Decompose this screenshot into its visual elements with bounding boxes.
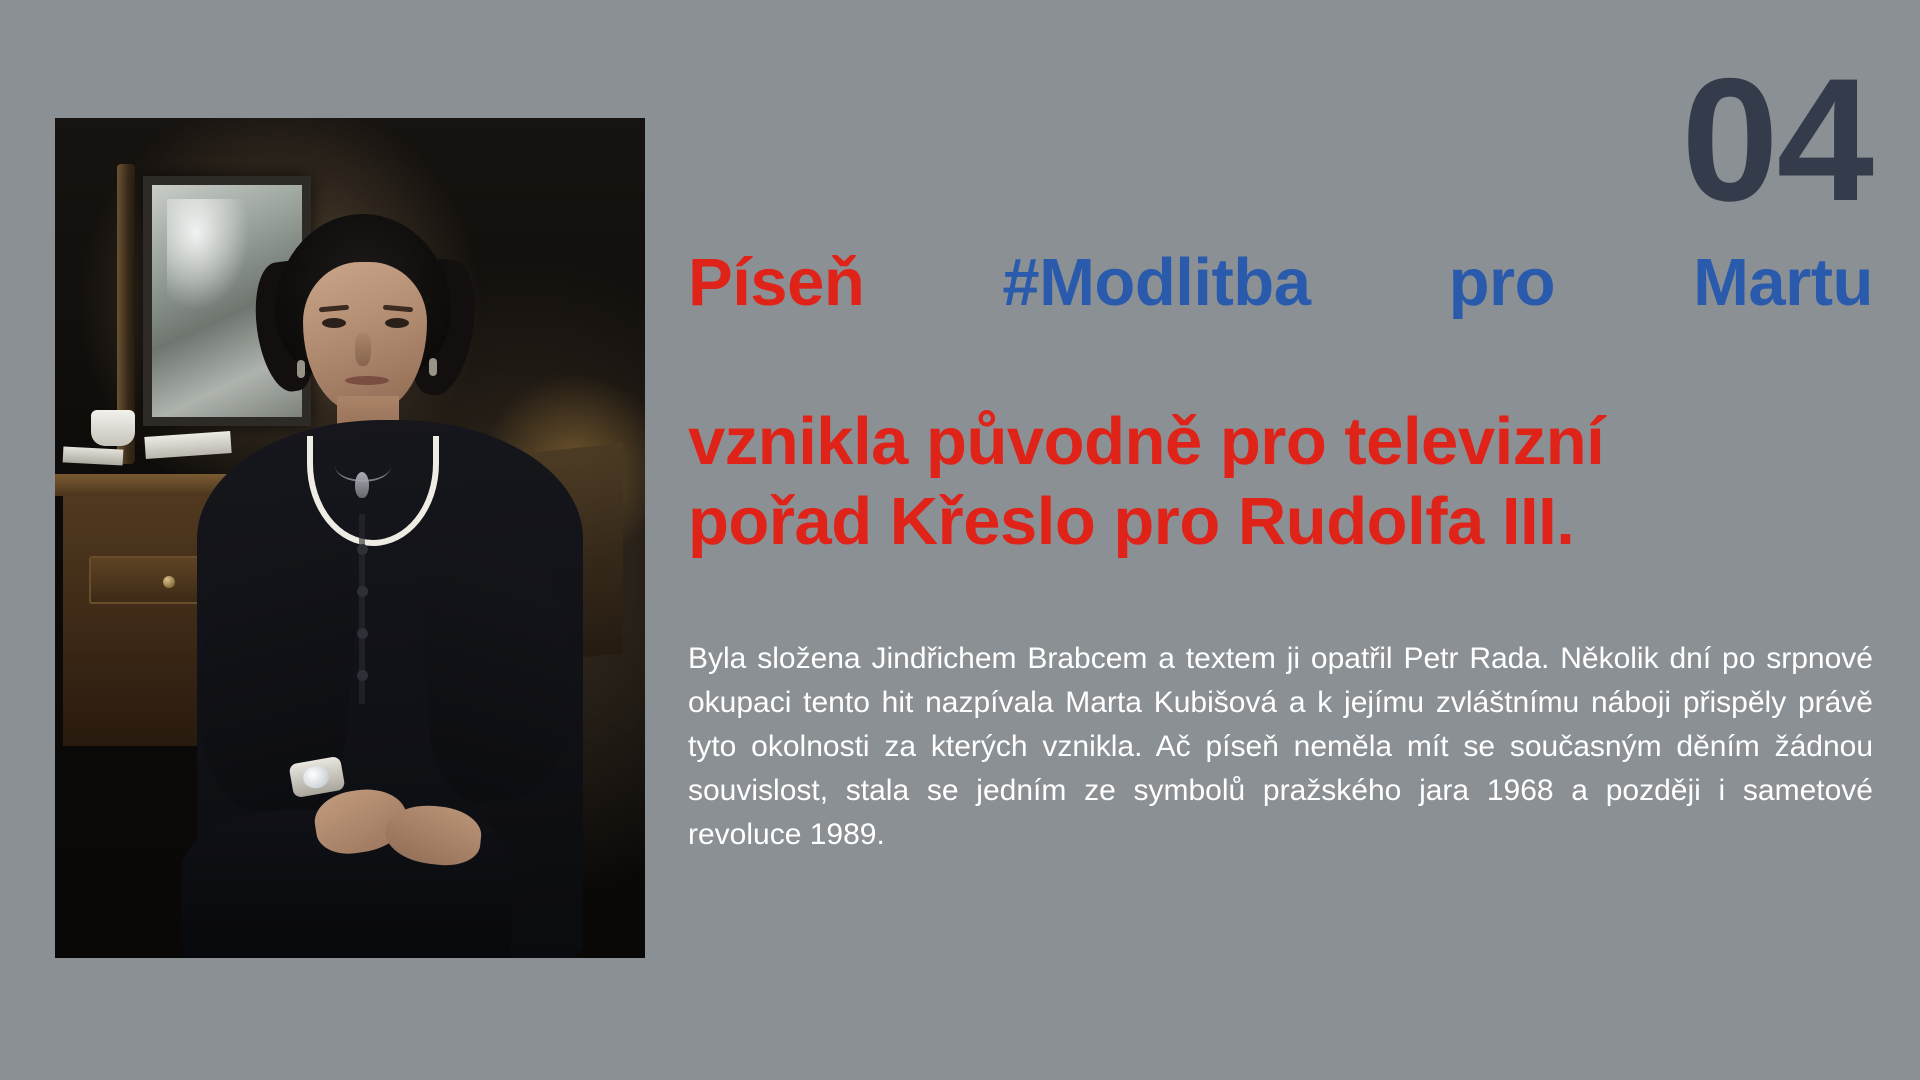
- headline-hashtag-modlitba: #Modlitba: [1002, 245, 1310, 320]
- headline: Píseň #Modlitba pro Martu vznikla původn…: [688, 243, 1873, 562]
- headline-word-pro: pro: [1449, 245, 1555, 320]
- earring-right-icon: [429, 358, 437, 376]
- mouth: [345, 376, 389, 385]
- body-line-1: Byla složena Jindřichem Brabcem a textem…: [688, 642, 1659, 675]
- dress-button: [357, 586, 368, 597]
- body-paragraph: Byla složena Jindřichem Brabcem a textem…: [688, 637, 1873, 857]
- earring-left-icon: [297, 360, 305, 378]
- paper-object-secondary: [63, 446, 124, 465]
- eye-right: [385, 318, 409, 328]
- photo-canvas: [55, 118, 645, 958]
- dress-button: [357, 544, 368, 555]
- body-line-5: se jedním ze symbolů pražského jara 1968…: [927, 774, 1873, 807]
- headline-line-2: vznikla původně pro televizní: [688, 402, 1873, 482]
- cup-object: [91, 410, 135, 446]
- body-copy: Byla složena Jindřichem Brabcem a textem…: [688, 637, 1873, 857]
- woman-figure: [187, 214, 587, 958]
- headline-line-3: pořad Křeslo pro Rudolfa III.: [688, 482, 1873, 562]
- headline-word-martu: Martu: [1693, 245, 1873, 320]
- necklace-pendant-icon: [355, 472, 369, 498]
- body-line-6: revoluce 1989.: [688, 818, 885, 851]
- nose: [355, 332, 371, 366]
- slide-root: 04 Píseň #Modlitba pro Martu vznikla pův…: [0, 0, 1920, 1080]
- headline-line-1: Píseň #Modlitba pro Martu: [688, 243, 1873, 402]
- portrait-photo: [55, 118, 645, 958]
- drawer-knob-icon: [163, 576, 175, 588]
- dress-button: [357, 670, 368, 681]
- dress-button: [357, 628, 368, 639]
- slide-number: 04: [1681, 60, 1872, 221]
- headline-word-pisen: Píseň: [688, 245, 864, 320]
- eye-left: [322, 318, 346, 328]
